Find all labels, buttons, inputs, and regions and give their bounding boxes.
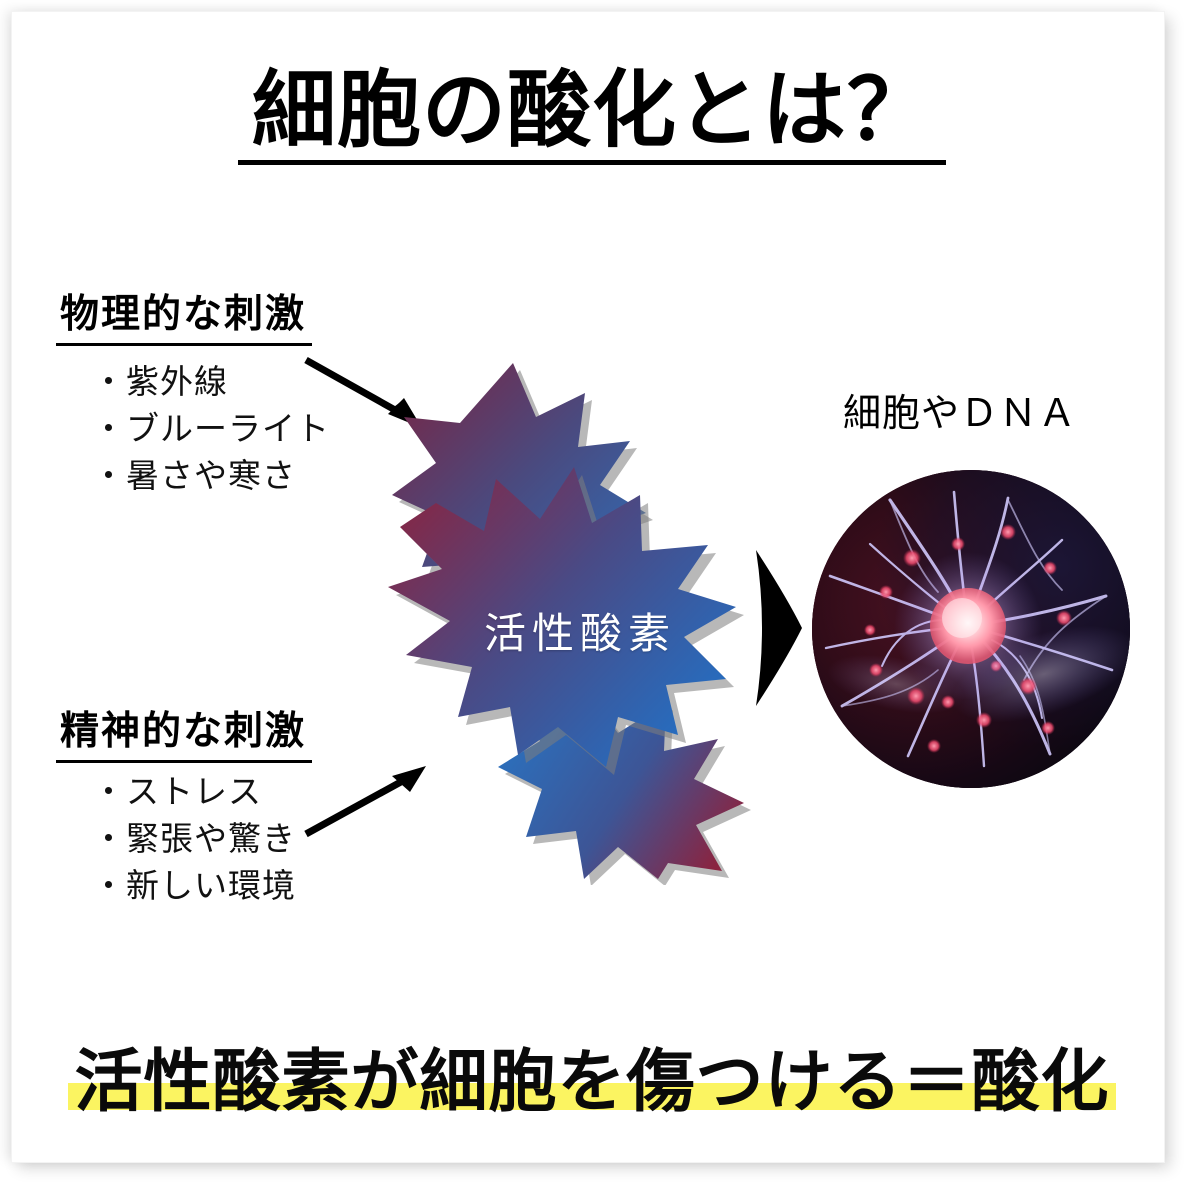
slide-canvas: 細胞の酸化とは？ 物理的な刺激 ・紫外線 ・ブルーライト ・暑さや寒さ 精神的な… bbox=[0, 0, 1184, 1184]
arrow-right-icon bbox=[752, 548, 804, 708]
list-item: ・緊張や驚き bbox=[92, 815, 296, 862]
starburst-label: 活性酸素 bbox=[440, 600, 720, 661]
section-heading-physical-text: 物理的な刺激 bbox=[56, 283, 312, 346]
neuron-image bbox=[812, 470, 1130, 788]
conclusion-banner: 活性酸素が細胞を傷つける＝酸化 bbox=[0, 1026, 1184, 1136]
target-label: 細胞やＤＮＡ bbox=[800, 382, 1120, 437]
section-heading-physical: 物理的な刺激 bbox=[56, 283, 312, 346]
list-item: ・紫外線 bbox=[92, 358, 330, 405]
bullet-list-mental: ・ストレス ・緊張や驚き ・新しい環境 bbox=[92, 768, 296, 909]
section-heading-mental-text: 精神的な刺激 bbox=[56, 700, 312, 763]
list-item: ・ブルーライト bbox=[92, 405, 330, 452]
bullet-list-physical: ・紫外線 ・ブルーライト ・暑さや寒さ bbox=[92, 358, 330, 499]
section-heading-mental: 精神的な刺激 bbox=[56, 700, 312, 763]
page-title-text: 細胞の酸化とは？ bbox=[238, 66, 946, 165]
page-title: 細胞の酸化とは？ bbox=[0, 66, 1184, 165]
list-item: ・暑さや寒さ bbox=[92, 452, 330, 499]
list-item: ・ストレス bbox=[92, 768, 296, 815]
conclusion-text: 活性酸素が細胞を傷つける＝酸化 bbox=[0, 1026, 1184, 1125]
list-item: ・新しい環境 bbox=[92, 862, 296, 909]
